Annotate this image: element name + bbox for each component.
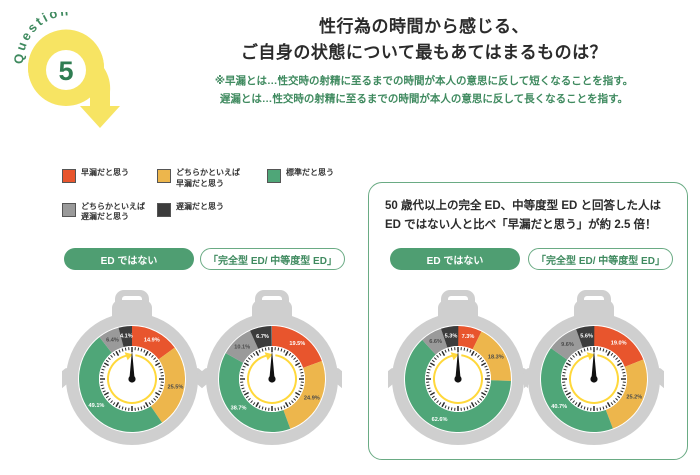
legend-item-3: どちらかといえば 遅漏だと思う (62, 202, 157, 224)
pill-label: 「完全型 ED/ 中等度型 ED」 (200, 248, 345, 270)
stopwatch-chart-2: 7.3%18.3%62.6%6.6%5.3% (388, 286, 528, 466)
slice-percent-label: 6.7% (256, 334, 269, 340)
question-badge: 5 Question (8, 12, 148, 132)
chart-label-pill-2: ED ではない (390, 248, 520, 270)
slice-percent-label: 4.1% (120, 333, 133, 339)
slice-percent-label: 5.6% (580, 334, 593, 340)
chart-label-pill-0: ED ではない (64, 248, 194, 270)
legend-swatch-icon (157, 169, 171, 183)
slice-percent-label: 18.3% (488, 354, 504, 360)
legend-item-4: 遅漏だと思う (157, 202, 224, 224)
slice-percent-label: 49.1% (89, 403, 105, 409)
legend-swatch-icon (267, 169, 281, 183)
legend-item-1: どちらかといえば 早漏だと思う (157, 168, 267, 190)
callout-line-2: ED ではない人と比べ「早漏だと思う」が約 2.5 倍！ (385, 216, 671, 235)
legend-swatch-icon (62, 203, 76, 217)
stopwatch-chart-3: 19.0%25.2%40.7%9.6%5.6% (524, 286, 664, 466)
pill-label: ED ではない (390, 248, 520, 270)
note-block: ※早漏とは…性交時の射精に至るまでの時間が本人の意思に反して短くなることを指す。… (150, 72, 698, 109)
title-line-2: ご自身の状態について最もあてはまるものは？ (150, 40, 698, 66)
legend-swatch-icon (62, 169, 76, 183)
legend-swatch-icon (157, 203, 171, 217)
title-line-1: 性行為の時間から感じる、 (150, 14, 698, 40)
legend-label-3: どちらかといえば 遅漏だと思う (81, 202, 145, 224)
legend-item-2: 標準だと思う (267, 168, 334, 190)
slice-percent-label: 5.3% (445, 334, 458, 340)
slice-percent-label: 19.5% (289, 341, 305, 347)
slice-percent-label: 14.9% (144, 338, 160, 344)
slice-percent-label: 24.9% (304, 396, 320, 402)
slice-percent-label: 9.6% (561, 342, 574, 348)
badge-number: 5 (58, 56, 73, 86)
legend-row-2: どちらかといえば 遅漏だと思う 遅漏だと思う (62, 202, 362, 224)
note-line-1: ※早漏とは…性交時の射精に至るまでの時間が本人の意思に反して短くなることを指す。 (150, 72, 698, 90)
slice-percent-label: 19.0% (611, 341, 627, 347)
slice-percent-label: 6.6% (429, 339, 442, 345)
stopwatch-chart-0: 14.9%25.5%49.1%6.4%4.1% (62, 286, 202, 466)
slice-percent-label: 25.5% (167, 384, 183, 390)
legend-row-1: 早漏だと思う どちらかといえば 早漏だと思う 標準だと思う (62, 168, 362, 190)
panel-callout: 50 歳代以上の完全 ED、中等度型 ED と回答した人は ED ではない人と比… (369, 183, 687, 235)
legend-label-1: どちらかといえば 早漏だと思う (176, 168, 240, 190)
legend-item-0: 早漏だと思う (62, 168, 157, 190)
slice-percent-label: 40.7% (551, 404, 567, 410)
slice-percent-label: 7.3% (462, 334, 475, 340)
pill-label: ED ではない (64, 248, 194, 270)
chart-label-pill-1: 「完全型 ED/ 中等度型 ED」 (200, 248, 345, 270)
chart-label-pill-3: 「完全型 ED/ 中等度型 ED」 (528, 248, 673, 270)
note-line-2: 遅漏とは…性交時の射精に至るまでの時間が本人の意思に反して長くなることを指す。 (150, 90, 698, 108)
pill-label: 「完全型 ED/ 中等度型 ED」 (528, 248, 673, 270)
slice-percent-label: 38.7% (231, 406, 247, 412)
legend-label-4: 遅漏だと思う (176, 202, 224, 213)
callout-line-1: 50 歳代以上の完全 ED、中等度型 ED と回答した人は (385, 197, 671, 216)
slice-percent-label: 10.1% (234, 345, 250, 351)
slice-percent-label: 62.6% (432, 417, 448, 423)
slice-percent-label: 25.2% (626, 395, 642, 401)
legend-label-0: 早漏だと思う (81, 168, 129, 179)
slice-percent-label: 6.4% (106, 338, 119, 344)
stopwatch-chart-1: 19.5%24.9%38.7%10.1%6.7% (202, 286, 342, 466)
legend-label-2: 標準だと思う (286, 168, 334, 179)
legend: 早漏だと思う どちらかといえば 早漏だと思う 標準だと思う どちらかといえば 遅… (62, 168, 362, 231)
page-title: 性行為の時間から感じる、 ご自身の状態について最もあてはまるものは？ ※早漏とは… (150, 14, 698, 109)
